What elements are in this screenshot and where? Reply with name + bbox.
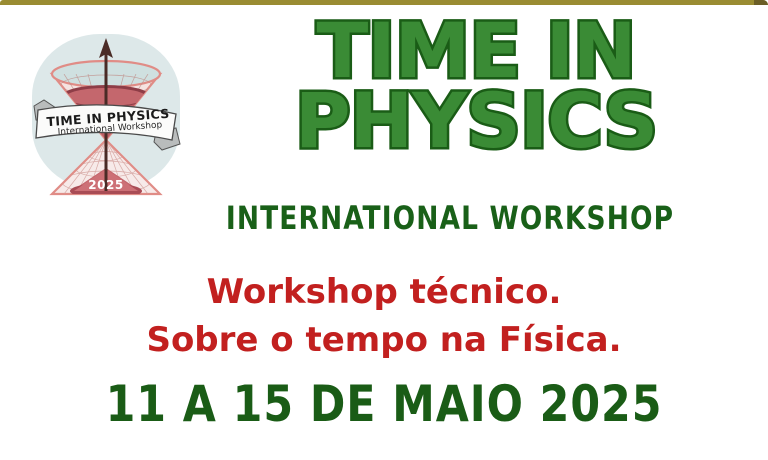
page-title: TIME IN PHYSICS <box>196 14 756 159</box>
title-line-two: PHYSICS <box>196 84 756 158</box>
workshop-logo: TIME IN PHYSICS International Workshop 2… <box>26 28 186 196</box>
conference-poster: TIME IN PHYSICS International Workshop 2… <box>0 0 768 460</box>
event-tagline: Workshop técnico. Sobre o tempo na Físic… <box>84 268 684 365</box>
logo-year-label: 2025 <box>26 178 186 192</box>
tagline-line-two: Sobre o tempo na Física. <box>84 316 684 364</box>
event-dateline: 11 A 15 DE MAIO 2025 <box>99 375 669 433</box>
event-subtitle: INTERNATIONAL WORKSHOP <box>174 199 726 237</box>
tagline-line-one: Workshop técnico. <box>84 268 684 316</box>
top-gold-rule <box>0 0 768 5</box>
